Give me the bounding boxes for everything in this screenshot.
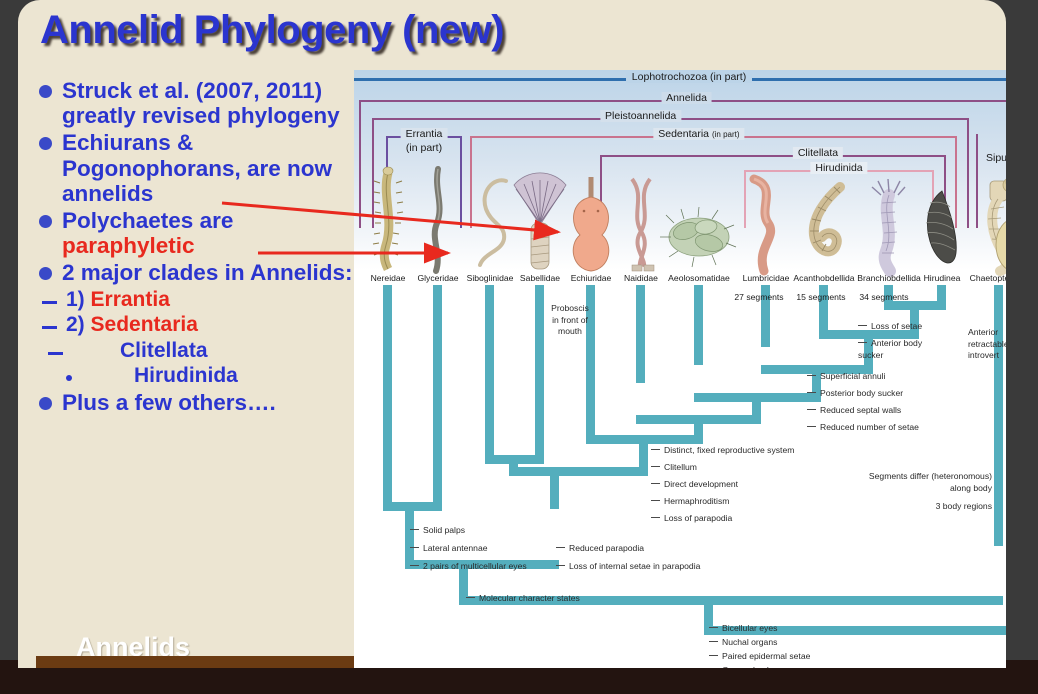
- bullet-text-part-b: paraphyletic: [62, 233, 195, 258]
- annotation-molecular-character-states: Molecular character states: [466, 593, 580, 605]
- bullet-text-part-a: 2): [66, 313, 91, 336]
- organism-illustrations: [354, 165, 1006, 277]
- list-item: Echiurans & Pogonophorans, are now annel…: [28, 130, 358, 206]
- bullet-dot-icon: [28, 78, 62, 98]
- list-item: 1) Errantia: [32, 288, 358, 312]
- branch-tip-aeolosomatidae: [694, 285, 703, 365]
- bullet-text-part-a: 1): [66, 288, 91, 311]
- branch-tip-hirudinea: [937, 285, 946, 301]
- organism-siboglinidae: [480, 180, 506, 265]
- branch-tip-nereidae: [383, 285, 392, 502]
- annotation-loss-of-setae: Loss of setae: [858, 321, 922, 333]
- sipuncula-label: Sipuncula: [986, 152, 1006, 164]
- bullet-dash-icon: [32, 288, 66, 306]
- bullet-list: Struck et al. (2007, 2011) greatly revis…: [28, 78, 358, 417]
- taxon-label: Naididae: [624, 273, 658, 283]
- bullet-dash-icon: [32, 313, 66, 331]
- organism-branchiobdellida: [872, 179, 905, 271]
- taxon-label: Branchiobdellida: [857, 273, 921, 283]
- annotation-paired-epidermal-setae: Paired epidermal setae: [709, 651, 810, 663]
- organism-glyceridae: [435, 169, 440, 271]
- annotation-bicellular-eyes: Bicellular eyes: [709, 623, 777, 635]
- node-stem-siboglinidae-sabellidae: [509, 455, 518, 467]
- taxon-label: Glyceridae: [417, 273, 458, 283]
- annotation-reduced-parapodia: Reduced parapodia: [556, 543, 644, 555]
- annotation-segments-differ: Segments differ (heteronomous) along bod…: [794, 471, 992, 494]
- taxon-label: Hirudinea: [924, 273, 961, 283]
- organism-sabellidae: [514, 173, 566, 269]
- bullet-text-part-b: Sedentaria: [91, 313, 198, 336]
- bullet-text: 2) Sedentaria: [66, 313, 358, 337]
- annotation-line: Proboscis in front of mouth: [530, 303, 610, 338]
- annotation-reduced-septal-walls: Reduced septal walls: [807, 405, 901, 417]
- bullet-text: Hirudinida: [86, 364, 358, 388]
- bullet-dash-icon: [38, 339, 72, 357]
- taxon-label: Chaetopteridae: [970, 273, 1006, 283]
- annotation-reduced-number-of-setae: Reduced number of setae: [807, 422, 919, 434]
- branch-tip-siboglinidae: [485, 285, 494, 455]
- bullet-dot-icon: [28, 130, 62, 150]
- annotation-grooved-palps: Grooved palps: [709, 665, 778, 668]
- node-stem-sedentaria-upper: [694, 415, 703, 435]
- bullet-dot-icon: [28, 390, 62, 410]
- list-item: 2 major clades in Annelids:: [28, 260, 358, 285]
- segment-count-label: 34 segments: [859, 292, 908, 302]
- branch-tip-chaetopteridae: [994, 285, 1003, 546]
- annotation-anterior-body-sucker: Anterior body sucker: [858, 338, 936, 361]
- list-item: 2) Sedentaria: [32, 313, 358, 337]
- segment-count-label: 15 segments: [796, 292, 845, 302]
- bullet-text: Clitellata: [72, 339, 358, 363]
- cladogram: Proboscis in front of mouth Loss of seta…: [354, 285, 1006, 668]
- bullet-dot-icon: [28, 208, 62, 228]
- annotation-lateral-antennae: Lateral antennae: [410, 543, 488, 555]
- lophotrochozoa-label: Lophotrochozoa (in part): [354, 71, 1006, 83]
- bullet-dot-icon: [28, 260, 62, 280]
- node-bar-sedentaria: [509, 467, 648, 476]
- presentation-slide: Annelid Phylogeny (new) Struck et al. (2…: [18, 0, 1006, 668]
- list-item: Plus a few others….: [28, 390, 358, 415]
- clade-label: Sedentaria (in part): [653, 128, 744, 140]
- annotation-posterior-body-sucker: Posterior body sucker: [807, 388, 903, 400]
- organism-nereidae: [373, 167, 403, 269]
- phylogeny-figure: Lophotrochozoa (in part) Annelida Pleist…: [354, 70, 1006, 668]
- organisms-svg: [354, 165, 1006, 277]
- annotation-solid-palps: Solid palps: [410, 525, 465, 537]
- list-item: Clitellata: [38, 339, 358, 363]
- list-item: Hirudinida: [52, 364, 358, 388]
- bullet-text: 2 major clades in Annelids:: [62, 260, 358, 285]
- organism-echiuridae: [573, 177, 609, 271]
- clade-label: Errantia: [401, 128, 448, 140]
- taxon-label: Sabellidae: [520, 273, 560, 283]
- annotation-distinct-fixed-reproductive-system: Distinct, fixed reproductive system: [651, 445, 794, 457]
- organism-hirudinea: [926, 191, 956, 263]
- annotation-direct-development: Direct development: [651, 479, 738, 491]
- organism-acanthobdellida: [810, 187, 840, 251]
- annotation-loss-of-parapodia: Loss of parapodia: [651, 513, 732, 525]
- segment-count-label: 27 segments: [734, 292, 783, 302]
- organism-lumbricidae: [754, 179, 771, 271]
- clade-label: Clitellata: [793, 147, 843, 159]
- bullet-text: Plus a few others….: [62, 390, 358, 415]
- bullet-text: 1) Errantia: [66, 288, 358, 312]
- annotation-superficial-annuli: Superficial annuli: [807, 371, 885, 383]
- bullet-text: Polychaetes are paraphyletic: [62, 208, 358, 258]
- annotation-nuchal-organs: Nuchal organs: [709, 637, 777, 649]
- organism-aeolosomatidae: [660, 207, 736, 267]
- node-stem-clitellata: [752, 393, 761, 415]
- bullet-text: Echiurans & Pogonophorans, are now annel…: [62, 130, 358, 206]
- node-stem-sedentaria-mid: [639, 435, 648, 467]
- taxon-label: Siboglinidae: [467, 273, 514, 283]
- list-item: Struck et al. (2007, 2011) greatly revis…: [28, 78, 358, 128]
- clade-label: Pleistoannelida: [600, 110, 681, 122]
- annotation-two-pairs-multicellular-eyes: 2 pairs of multicellular eyes: [410, 561, 527, 573]
- taxon-label: Acanthobdellida: [793, 273, 854, 283]
- annotation-proboscis: Proboscis in front of mouth: [530, 303, 610, 338]
- annotation-hermaphroditism: Hermaphroditism: [651, 496, 729, 508]
- node-stem-annelida: [704, 596, 713, 626]
- annotation-clitellum: Clitellum: [651, 462, 697, 474]
- taxon-label: Lumbricidae: [743, 273, 790, 283]
- bullet-text-part-b: Errantia: [91, 288, 170, 311]
- taxon-label: Nereidae: [371, 273, 406, 283]
- annotation-anterior-retractable-introvert: Anterior retractable introvert: [968, 327, 1006, 362]
- taxon-label: Aeolosomatidae: [668, 273, 730, 283]
- branch-tip-glyceridae: [433, 285, 442, 502]
- bullet-small-dot-icon: [52, 364, 86, 382]
- list-item: Polychaetes are paraphyletic: [28, 208, 358, 258]
- taxon-label: Echiuridae: [571, 273, 612, 283]
- annotation-loss-internal-setae-parapodia: Loss of internal setae in parapodia: [556, 561, 700, 573]
- clade-label: Annelida: [661, 92, 712, 104]
- bullet-text-part-a: Polychaetes are: [62, 208, 233, 233]
- organism-naididae: [632, 179, 654, 271]
- screenshot-root: Annelid Phylogeny (new) Struck et al. (2…: [0, 0, 1038, 694]
- bullet-text: Struck et al. (2007, 2011) greatly revis…: [62, 78, 358, 128]
- branch-tip-naididae: [636, 285, 645, 383]
- annotation-three-body-regions: 3 body regions: [794, 501, 992, 513]
- clade-sublabel: (in part): [401, 142, 447, 154]
- page-title: Annelid Phylogeny (new): [40, 8, 504, 53]
- node-stem-sedentaria: [550, 467, 559, 509]
